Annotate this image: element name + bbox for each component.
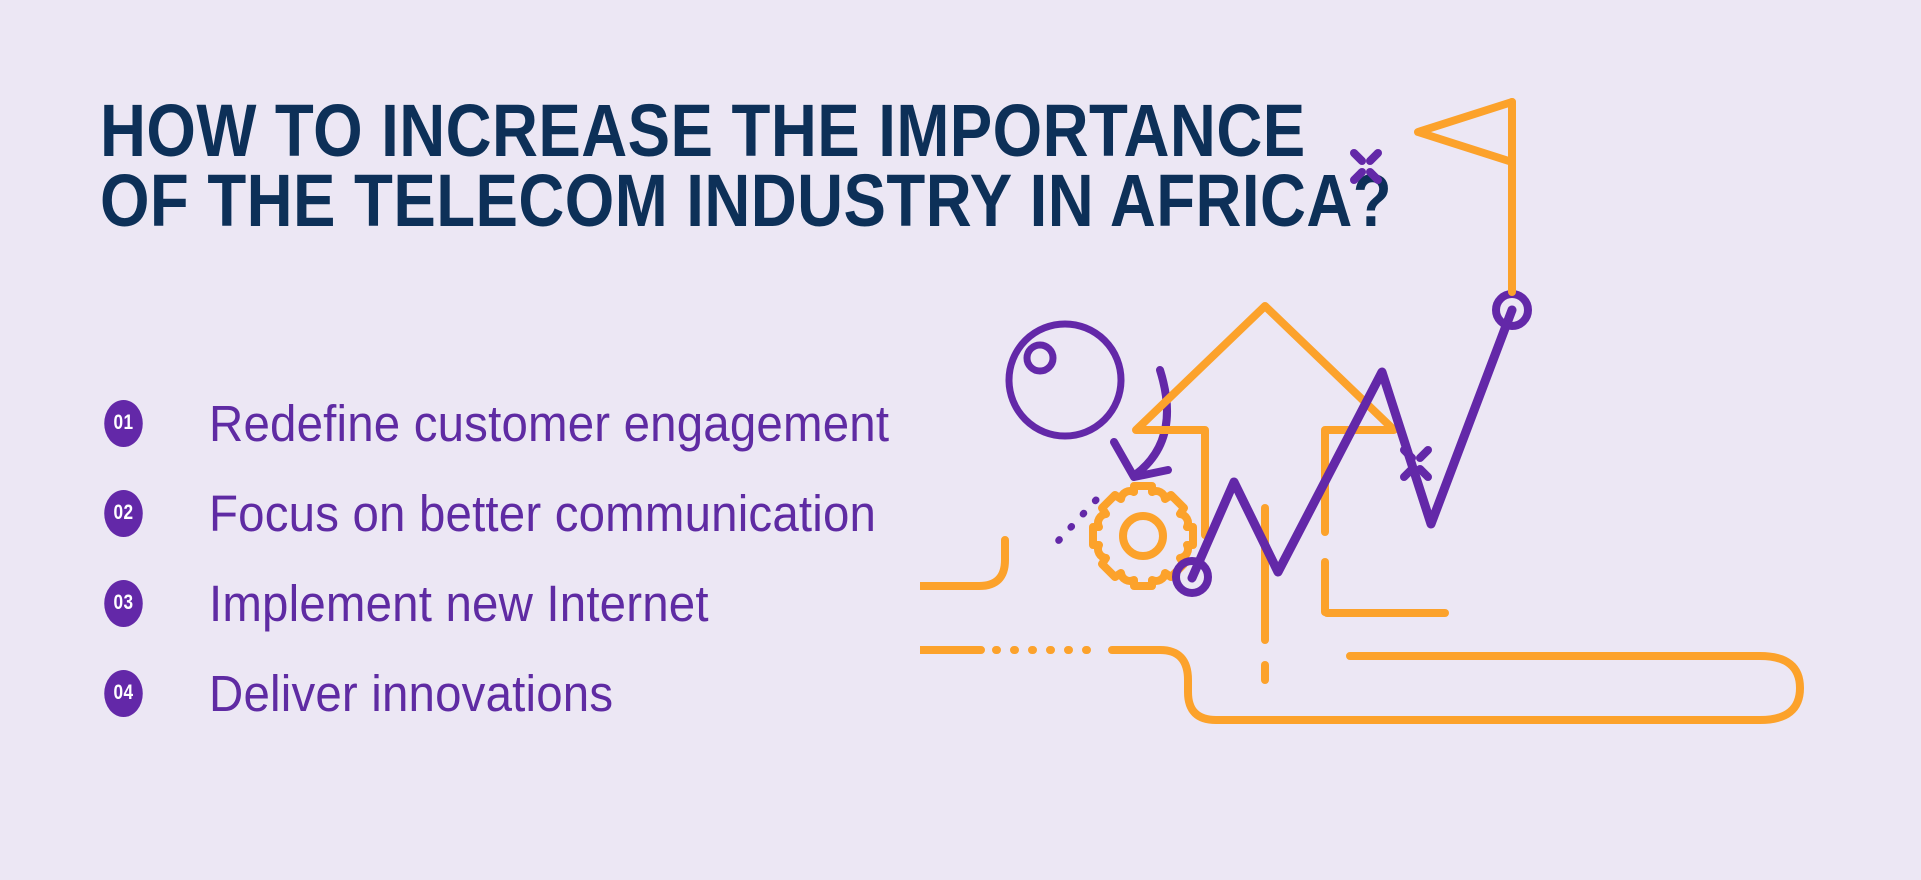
- flag-icon: [1418, 102, 1512, 292]
- step-label-02: Focus on better communication: [209, 488, 876, 539]
- step-badge-02: 02: [104, 490, 143, 537]
- step-badge-03: 03: [104, 580, 143, 627]
- page-title-line-2: OF THE TELECOM INDUSTRY IN AFRICA?: [100, 166, 926, 236]
- page-title-line-1: HOW TO INCREASE THE IMPORTANCE: [100, 96, 926, 166]
- dotted-diagonal-line: [1048, 500, 1096, 552]
- step-badge-01: 01: [104, 400, 143, 447]
- list-item[interactable]: 03 Implement new Internet: [100, 558, 1000, 648]
- infographic-poster: HOW TO INCREASE THE IMPORTANCE OF THE TE…: [0, 0, 1921, 880]
- list-item[interactable]: 02 Focus on better communication: [100, 468, 1000, 558]
- step-label-03: Implement new Internet: [209, 578, 709, 629]
- page-title: HOW TO INCREASE THE IMPORTANCE OF THE TE…: [100, 96, 926, 237]
- gear-center-hole: [1123, 516, 1163, 556]
- steps-list: 01 Redefine customer engagement 02 Focus…: [100, 378, 1000, 738]
- step-badge-04: 04: [104, 670, 143, 717]
- orange-pipe-path: [920, 540, 1005, 650]
- illustration-svg: [920, 40, 1920, 840]
- list-item[interactable]: 04 Deliver innovations: [100, 648, 1000, 738]
- step-label-04: Deliver innovations: [209, 668, 613, 719]
- sparkle-x-upper: [1354, 153, 1378, 180]
- orange-pipe-path: [1112, 650, 1800, 720]
- illustration: [920, 40, 1920, 840]
- flag-banner: [1418, 102, 1512, 162]
- list-item[interactable]: 01 Redefine customer engagement: [100, 378, 1000, 468]
- zigzag-growth-line: [1192, 310, 1512, 578]
- text-column: HOW TO INCREASE THE IMPORTANCE OF THE TE…: [100, 96, 1060, 237]
- purple-small-circle: [1027, 345, 1053, 371]
- step-label-01: Redefine customer engagement: [209, 398, 889, 449]
- purple-circle-outline: [1009, 324, 1121, 436]
